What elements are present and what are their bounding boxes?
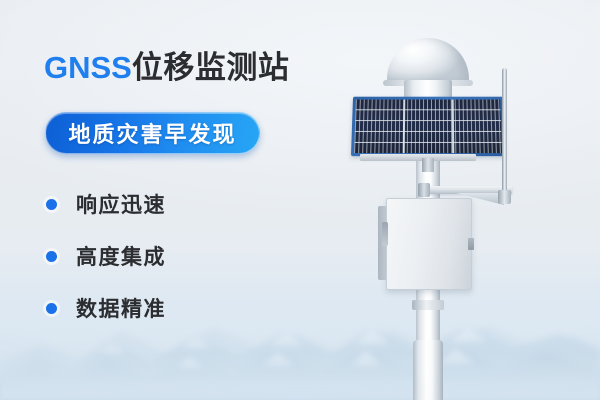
gnss-antenna-dome-icon <box>387 38 469 86</box>
bullet-dot-icon <box>46 303 57 314</box>
whip-antenna-base <box>498 190 511 204</box>
page-title: GNSS位移监测站 <box>44 52 289 83</box>
feature-list: 响应迅速 高度集成 数据精准 <box>46 178 166 334</box>
pole-foot <box>413 340 443 400</box>
text-column: GNSS位移监测站 地质灾害早发现 响应迅速 高度集成 数据精准 <box>0 0 330 400</box>
list-item: 数据精准 <box>46 282 166 334</box>
enclosure-hinge <box>382 222 388 246</box>
bullet-dot-icon <box>46 199 57 210</box>
cross-arm-clamp <box>418 183 430 197</box>
equipment-enclosure: 环境监测站 <box>386 198 472 290</box>
solar-panel-mount <box>360 154 476 161</box>
pole-collar <box>412 300 444 310</box>
bullet-dot-icon <box>46 251 57 262</box>
solar-panel-arm <box>422 158 434 172</box>
status-badge-label: 地质灾害早发现 <box>68 117 236 149</box>
list-item: 高度集成 <box>46 230 166 282</box>
list-item-label: 高度集成 <box>76 241 166 271</box>
monitoring-station-device: 环境监测站 <box>330 0 600 400</box>
list-item-label: 响应迅速 <box>76 189 166 219</box>
product-banner: GNSS位移监测站 地质灾害早发现 响应迅速 高度集成 数据精准 <box>0 0 600 400</box>
list-item-label: 数据精准 <box>76 293 166 323</box>
solar-panel-grid <box>354 100 502 153</box>
headline-brand: GNSS <box>44 50 132 85</box>
status-badge: 地质灾害早发现 <box>45 112 260 154</box>
headline-suffix: 位移监测站 <box>132 50 290 85</box>
solar-panel <box>351 97 505 156</box>
whip-antenna <box>502 68 507 198</box>
enclosure-latch <box>468 238 474 250</box>
list-item: 响应迅速 <box>46 178 166 230</box>
